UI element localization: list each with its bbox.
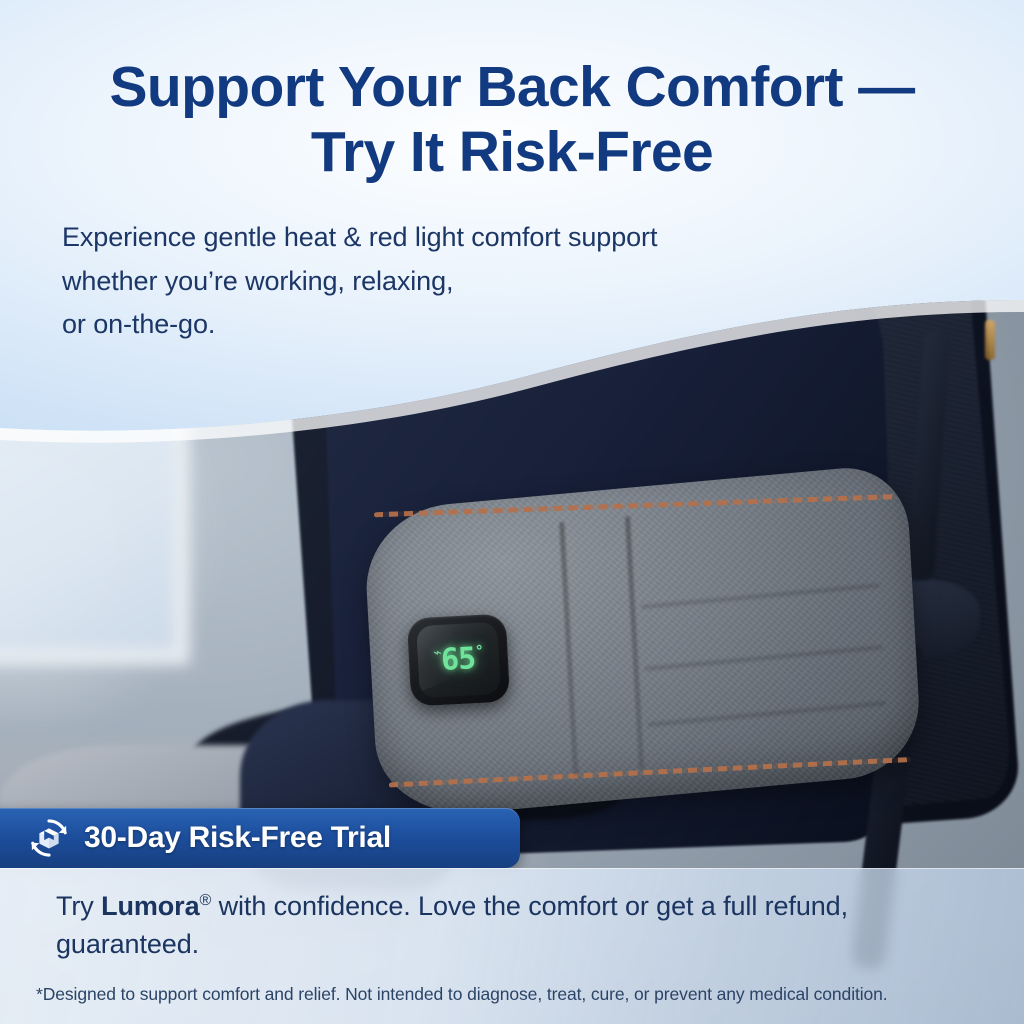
temperature-value: 65 <box>440 641 476 678</box>
headline-line-2: Try It Risk-Free <box>60 120 964 185</box>
return-box-icon <box>28 817 70 859</box>
guarantee-prefix: Try <box>56 891 101 921</box>
guarantee-text: Try Lumora® with confidence. Love the co… <box>56 887 956 964</box>
badge-label: 30-Day Risk-Free Trial <box>84 821 391 855</box>
risk-free-trial-badge: 30-Day Risk-Free Trial <box>0 808 520 868</box>
subcopy-line-1: Experience gentle heat & red light comfo… <box>62 216 782 260</box>
subcopy-line-2: whether you’re working, relaxing, <box>62 260 782 304</box>
legal-disclaimer: *Designed to support comfort and relief.… <box>36 983 1006 1006</box>
module-display-screen: ⌁65° <box>416 622 501 698</box>
wrap-control-module[interactable]: ⌁65° <box>407 613 510 706</box>
page-title: Support Your Back Comfort — Try It Risk-… <box>0 55 1024 185</box>
bottom-band: Try Lumora® with confidence. Love the co… <box>0 868 1024 1024</box>
temperature-readout: ⌁65° <box>417 643 499 677</box>
subheadline-copy: Experience gentle heat & red light comfo… <box>62 216 782 347</box>
degree-symbol: ° <box>474 642 483 660</box>
room-window <box>0 395 190 665</box>
headline-line-1: Support Your Back Comfort — <box>60 55 964 120</box>
registered-mark: ® <box>200 892 212 909</box>
chair-gold-trim <box>985 320 995 360</box>
heat-mode-icon: ⌁ <box>433 645 441 661</box>
subcopy-line-3: or on-the-go. <box>62 303 782 347</box>
brand-name: Lumora <box>101 891 199 921</box>
ad-creative: ⌁65° Support Your Back Comfort — Try It … <box>0 0 1024 1024</box>
